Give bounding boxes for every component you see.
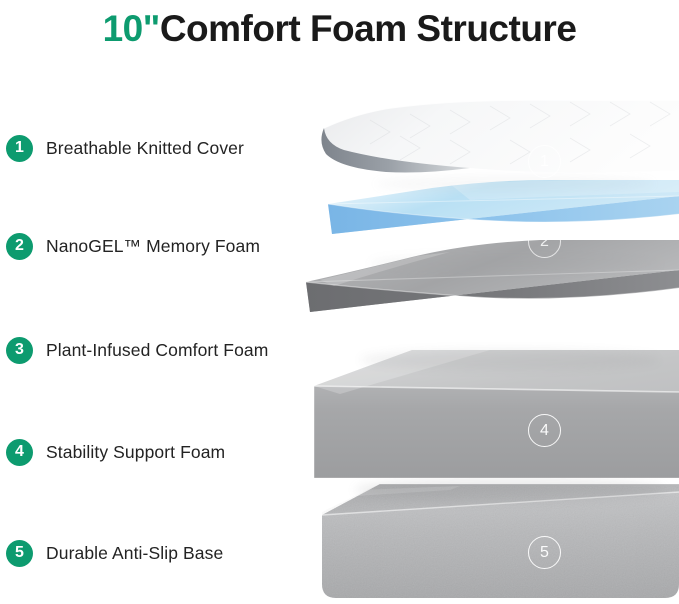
- nanogel-memory-foam-layer: [328, 180, 679, 273]
- layer-legend-list: 1 Breathable Knitted Cover 2 NanoGEL™ Me…: [0, 0, 320, 604]
- legend-label-4: Stability Support Foam: [46, 442, 225, 463]
- legend-label-1: Breathable Knitted Cover: [46, 138, 244, 159]
- mattress-layer-exploded-diagram: 1 2 3 4 5: [300, 92, 679, 604]
- legend-item-4: 4 Stability Support Foam: [6, 437, 225, 467]
- legend-item-5: 5 Durable Anti-Slip Base: [6, 538, 223, 568]
- legend-label-2: NanoGEL™ Memory Foam: [46, 236, 260, 257]
- legend-item-1: 1 Breathable Knitted Cover: [6, 133, 244, 163]
- legend-badge-4: 4: [6, 439, 33, 466]
- legend-badge-3: 3: [6, 337, 33, 364]
- legend-badge-5: 5: [6, 540, 33, 567]
- legend-badge-2: 2: [6, 233, 33, 260]
- legend-label-5: Durable Anti-Slip Base: [46, 543, 223, 564]
- legend-badge-1: 1: [6, 135, 33, 162]
- legend-item-3: 3 Plant-Infused Comfort Foam: [6, 335, 268, 365]
- mattress-layers-svg: [300, 92, 679, 604]
- knitted-cover-layer: [321, 100, 679, 192]
- legend-item-2: 2 NanoGEL™ Memory Foam: [6, 231, 260, 261]
- infographic-page: 10" Comfort Foam Structure 1 Breathable …: [0, 0, 679, 604]
- legend-label-3: Plant-Infused Comfort Foam: [46, 340, 268, 361]
- stability-support-foam-layer: [314, 350, 679, 502]
